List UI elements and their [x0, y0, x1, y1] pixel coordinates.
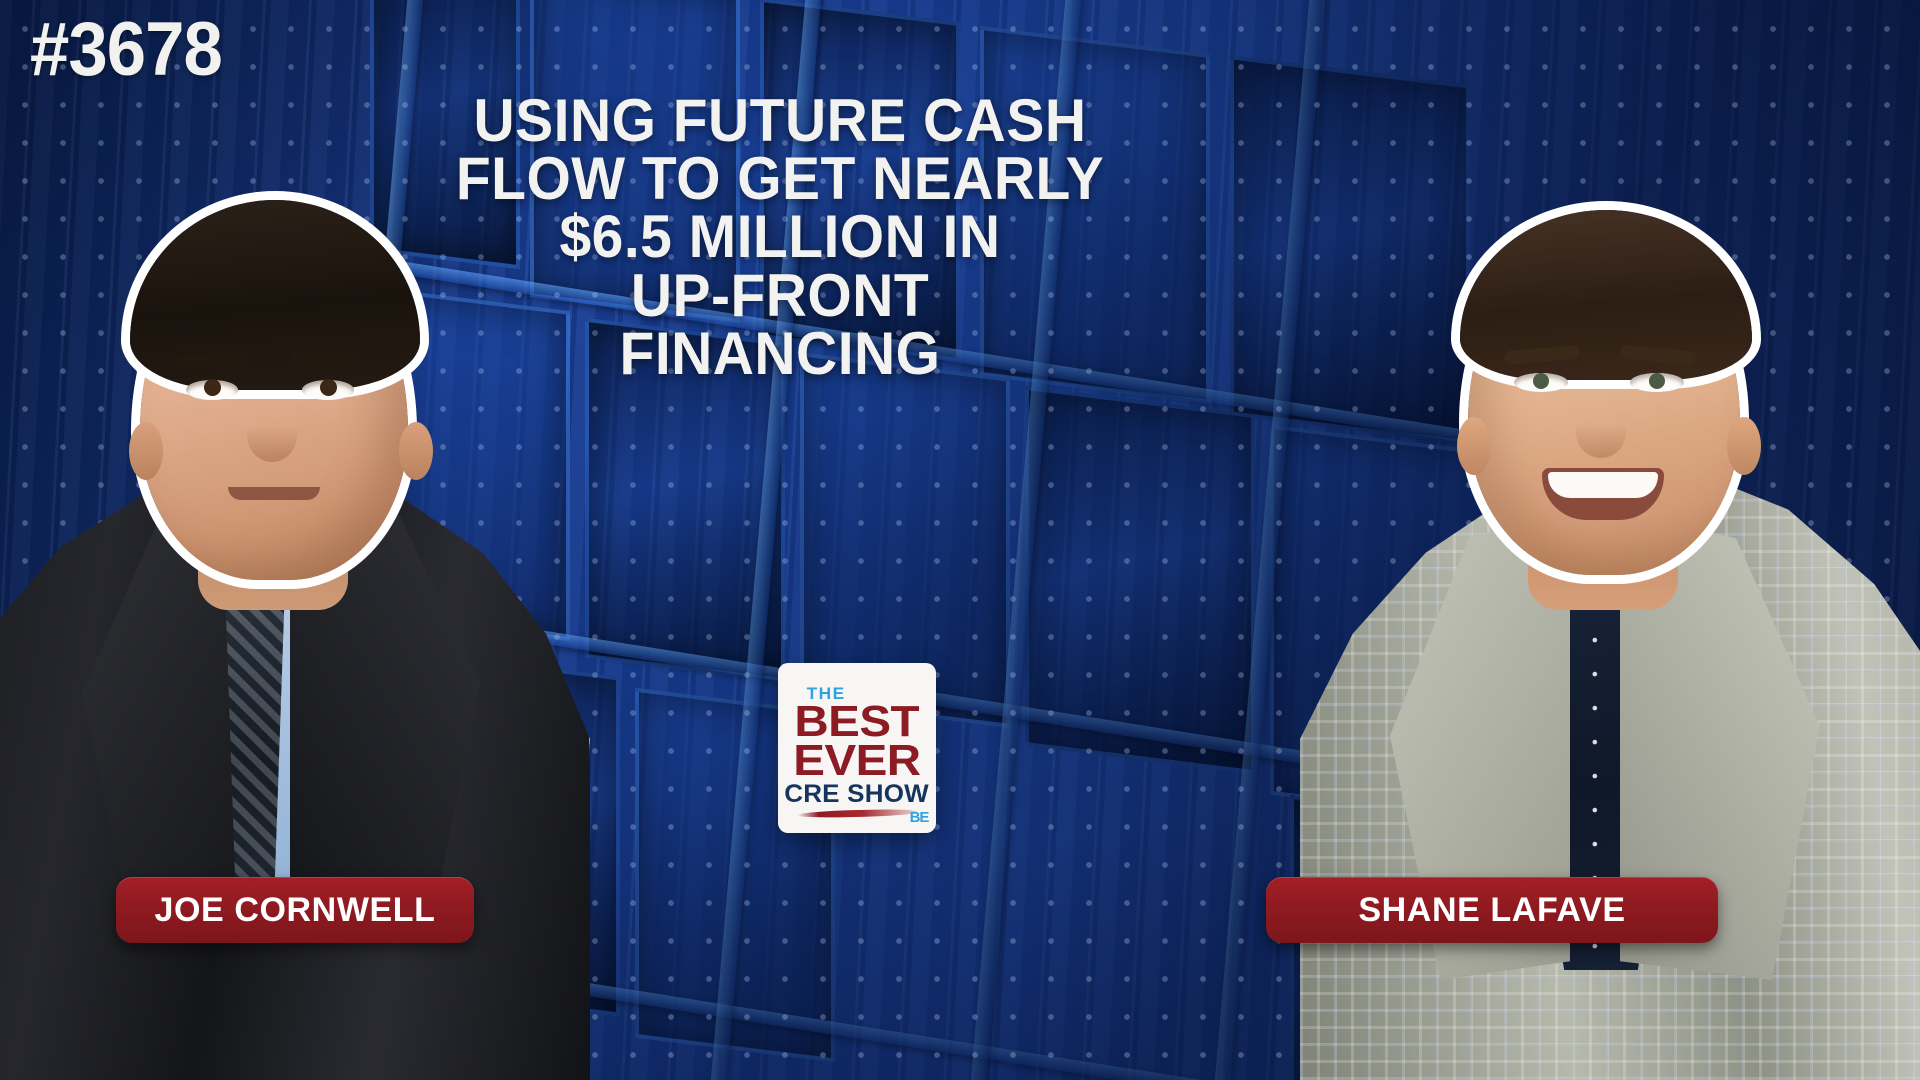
- ear-left: [1457, 417, 1491, 475]
- pupil-left: [204, 379, 221, 396]
- logo-be-mark: BE: [909, 807, 929, 827]
- teeth: [1548, 472, 1658, 498]
- ear-left: [129, 422, 163, 480]
- guest-name-badge-right: SHANE LAFAVE: [1266, 877, 1718, 943]
- mouth: [228, 487, 320, 500]
- hair: [130, 200, 420, 390]
- nose: [247, 408, 297, 462]
- thumbnail-canvas: #3678 USING FUTURE CASH FLOW TO GET NEAR…: [0, 0, 1920, 1080]
- guest-name-badge-left: JOE CORNWELL: [116, 877, 474, 943]
- logo-brushstroke-underline: [797, 809, 917, 819]
- pupil-right: [320, 379, 337, 396]
- ear-right: [1727, 417, 1761, 475]
- nose: [1576, 406, 1626, 458]
- ear-right: [399, 422, 433, 480]
- pupil-right: [1649, 373, 1665, 389]
- logo-word-ever: EVER: [793, 742, 920, 780]
- podcast-logo-card: THE BEST EVER CRE SHOW BE: [778, 663, 936, 833]
- pupil-left: [1533, 373, 1549, 389]
- logo-word-cre-show: CRE SHOW: [785, 782, 930, 807]
